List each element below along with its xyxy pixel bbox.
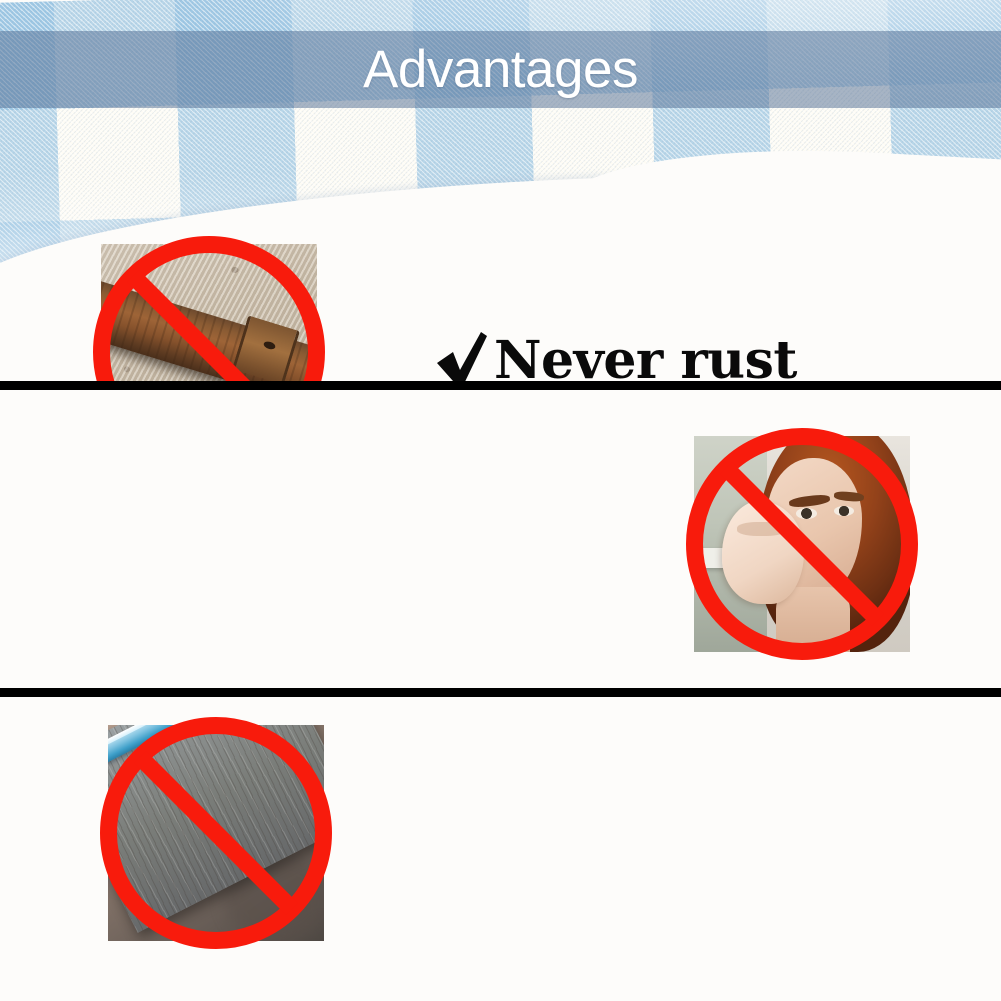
advantage-panel-no-residual-flavor: No residual flavor bbox=[0, 390, 1001, 690]
feature-label: Never rust bbox=[494, 335, 797, 387]
advantage-panel-never-rust: Never rust bbox=[0, 108, 1001, 383]
panel-divider-2 bbox=[0, 688, 1001, 697]
advantages-poster: Advantages Never rust bbox=[0, 0, 1001, 1001]
advantage-panel-not-dull-durable: Not dull, Durable bbox=[0, 697, 1001, 1001]
page-title: Advantages bbox=[363, 43, 638, 96]
panel-divider-1 bbox=[0, 381, 1001, 390]
prohibition-badge-smell bbox=[686, 428, 918, 660]
banner-bar: Advantages bbox=[0, 31, 1001, 108]
prohibition-badge-dull bbox=[100, 717, 332, 949]
